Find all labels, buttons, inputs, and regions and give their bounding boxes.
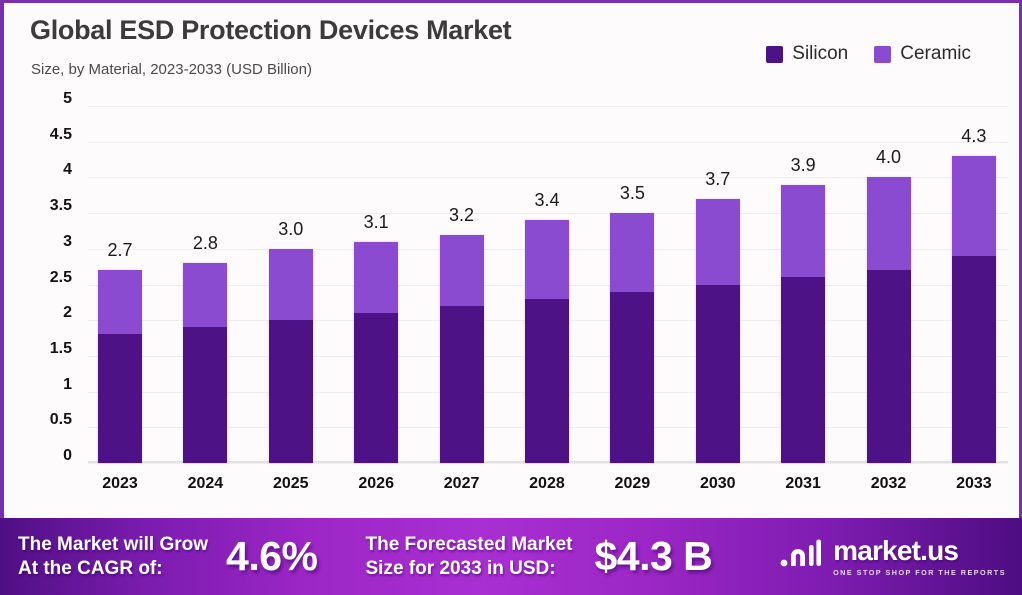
- bar-stack[interactable]: [952, 156, 996, 463]
- bar-total-label: 4.3: [961, 126, 986, 147]
- bar-stack[interactable]: [525, 220, 569, 463]
- bar-total-label: 2.7: [107, 240, 132, 261]
- bar-group[interactable]: 4.0: [867, 106, 911, 463]
- y-axis-tick: 3: [4, 233, 72, 251]
- bar-segment-ceramic[interactable]: [440, 235, 484, 306]
- x-axis-tick: 2024: [183, 475, 227, 505]
- bar-stack[interactable]: [610, 213, 654, 463]
- y-axis-tick: 4.5: [4, 126, 72, 144]
- cagr-label: The Market will Grow At the CAGR of:: [18, 533, 208, 579]
- chart-legend: SiliconCeramic: [766, 43, 971, 65]
- forecast-block: The Forecasted Market Size for 2033 in U…: [366, 533, 713, 580]
- bar-segment-ceramic[interactable]: [696, 199, 740, 285]
- legend-item-silicon[interactable]: Silicon: [766, 43, 848, 65]
- bar-total-label: 4.0: [876, 147, 901, 168]
- bar-stack[interactable]: [269, 249, 313, 463]
- bar-segment-silicon[interactable]: [867, 270, 911, 463]
- bar-segment-ceramic[interactable]: [952, 156, 996, 256]
- gridline: [88, 463, 1008, 464]
- bar-segment-ceramic[interactable]: [354, 242, 398, 313]
- y-axis-tick: 2: [4, 304, 72, 322]
- bar-group[interactable]: 3.0: [269, 106, 313, 463]
- x-axis: 2023202420252026202720282029203020312032…: [88, 475, 1008, 505]
- bar-segment-silicon[interactable]: [696, 285, 740, 464]
- bar-stack[interactable]: [867, 177, 911, 463]
- logo-text: market.us ONE STOP SHOP FOR THE REPORTS: [833, 537, 1006, 577]
- legend-label: Ceramic: [900, 43, 971, 65]
- bar-segment-silicon[interactable]: [98, 334, 142, 463]
- x-axis-tick: 2023: [98, 475, 142, 505]
- bar-total-label: 2.8: [193, 233, 218, 254]
- bar-segment-silicon[interactable]: [525, 299, 569, 463]
- legend-swatch-icon: [874, 46, 891, 63]
- bar-group[interactable]: 4.3: [952, 106, 996, 463]
- y-axis-tick: 3.5: [4, 197, 72, 215]
- bar-group[interactable]: 3.9: [781, 106, 825, 463]
- bar-total-label: 3.5: [620, 183, 645, 204]
- bar-segment-ceramic[interactable]: [610, 213, 654, 292]
- cagr-value: 4.6%: [226, 533, 317, 580]
- page-title: Global ESD Protection Devices Market: [30, 15, 511, 46]
- x-axis-tick: 2025: [269, 475, 313, 505]
- bar-stack[interactable]: [440, 235, 484, 463]
- bar-total-label: 3.1: [364, 212, 389, 233]
- legend-item-ceramic[interactable]: Ceramic: [874, 43, 971, 65]
- logo-wordmark: market.us: [833, 537, 1006, 565]
- bar-segment-silicon[interactable]: [610, 292, 654, 463]
- x-axis-tick: 2028: [525, 475, 569, 505]
- bar-group[interactable]: 2.8: [183, 106, 227, 463]
- footer-banner: The Market will Grow At the CAGR of: 4.6…: [0, 518, 1022, 595]
- market-us-logo[interactable]: market.us ONE STOP SHOP FOR THE REPORTS: [780, 537, 1006, 577]
- x-axis-tick: 2033: [952, 475, 996, 505]
- y-axis-tick: 1: [4, 376, 72, 394]
- y-axis-tick: 2.5: [4, 269, 72, 287]
- chart-panel: Global ESD Protection Devices Market Siz…: [0, 0, 1022, 518]
- bar-group[interactable]: 3.5: [610, 106, 654, 463]
- bar-stack[interactable]: [183, 263, 227, 463]
- forecast-value: $4.3 B: [594, 533, 712, 580]
- bar-segment-silicon[interactable]: [952, 256, 996, 463]
- cagr-block: The Market will Grow At the CAGR of: 4.6…: [18, 533, 318, 580]
- bar-stack[interactable]: [696, 199, 740, 463]
- bar-segment-silicon[interactable]: [781, 277, 825, 463]
- bar-segment-silicon[interactable]: [183, 327, 227, 463]
- bar-series: 2.72.83.03.13.23.43.53.73.94.04.3: [88, 106, 1008, 463]
- bar-stack[interactable]: [354, 242, 398, 463]
- x-axis-tick: 2031: [781, 475, 825, 505]
- bar-group[interactable]: 2.7: [98, 106, 142, 463]
- bar-segment-ceramic[interactable]: [269, 249, 313, 320]
- x-axis-tick: 2026: [354, 475, 398, 505]
- bar-segment-silicon[interactable]: [354, 313, 398, 463]
- bar-total-label: 3.7: [705, 169, 730, 190]
- plot-area: 2.72.83.03.13.23.43.53.73.94.04.3: [88, 106, 1008, 463]
- bar-segment-ceramic[interactable]: [525, 220, 569, 299]
- y-axis: 00.511.522.533.544.55: [4, 99, 72, 464]
- legend-swatch-icon: [766, 46, 783, 63]
- infographic-root: Global ESD Protection Devices Market Siz…: [0, 0, 1022, 595]
- bar-group[interactable]: 3.4: [525, 106, 569, 463]
- bar-stack[interactable]: [98, 270, 142, 463]
- bar-group[interactable]: 3.7: [696, 106, 740, 463]
- y-axis-tick: 4: [4, 161, 72, 179]
- bar-total-label: 3.0: [278, 219, 303, 240]
- bar-segment-silicon[interactable]: [269, 320, 313, 463]
- y-axis-tick: 5: [4, 90, 72, 108]
- bar-total-label: 3.2: [449, 205, 474, 226]
- bar-segment-ceramic[interactable]: [98, 270, 142, 334]
- bar-segment-ceramic[interactable]: [183, 263, 227, 327]
- x-axis-tick: 2032: [867, 475, 911, 505]
- y-axis-tick: 0.5: [4, 411, 72, 429]
- logo-tagline: ONE STOP SHOP FOR THE REPORTS: [833, 568, 1006, 577]
- y-axis-tick: 0: [4, 447, 72, 465]
- legend-label: Silicon: [792, 43, 848, 65]
- bar-stack[interactable]: [781, 185, 825, 463]
- bar-total-label: 3.4: [534, 190, 559, 211]
- forecast-label: The Forecasted Market Size for 2033 in U…: [366, 533, 573, 579]
- bar-segment-ceramic[interactable]: [781, 185, 825, 278]
- bar-group[interactable]: 3.1: [354, 106, 398, 463]
- bar-chart-logo-icon: [780, 539, 824, 574]
- x-axis-tick: 2027: [440, 475, 484, 505]
- page-subtitle: Size, by Material, 2023-2033 (USD Billio…: [31, 61, 312, 78]
- bar-total-label: 3.9: [791, 155, 816, 176]
- bar-group[interactable]: 3.2: [440, 106, 484, 463]
- y-axis-tick: 1.5: [4, 340, 72, 358]
- bar-segment-silicon[interactable]: [440, 306, 484, 463]
- x-axis-tick: 2030: [696, 475, 740, 505]
- bar-segment-ceramic[interactable]: [867, 177, 911, 270]
- x-axis-tick: 2029: [610, 475, 654, 505]
